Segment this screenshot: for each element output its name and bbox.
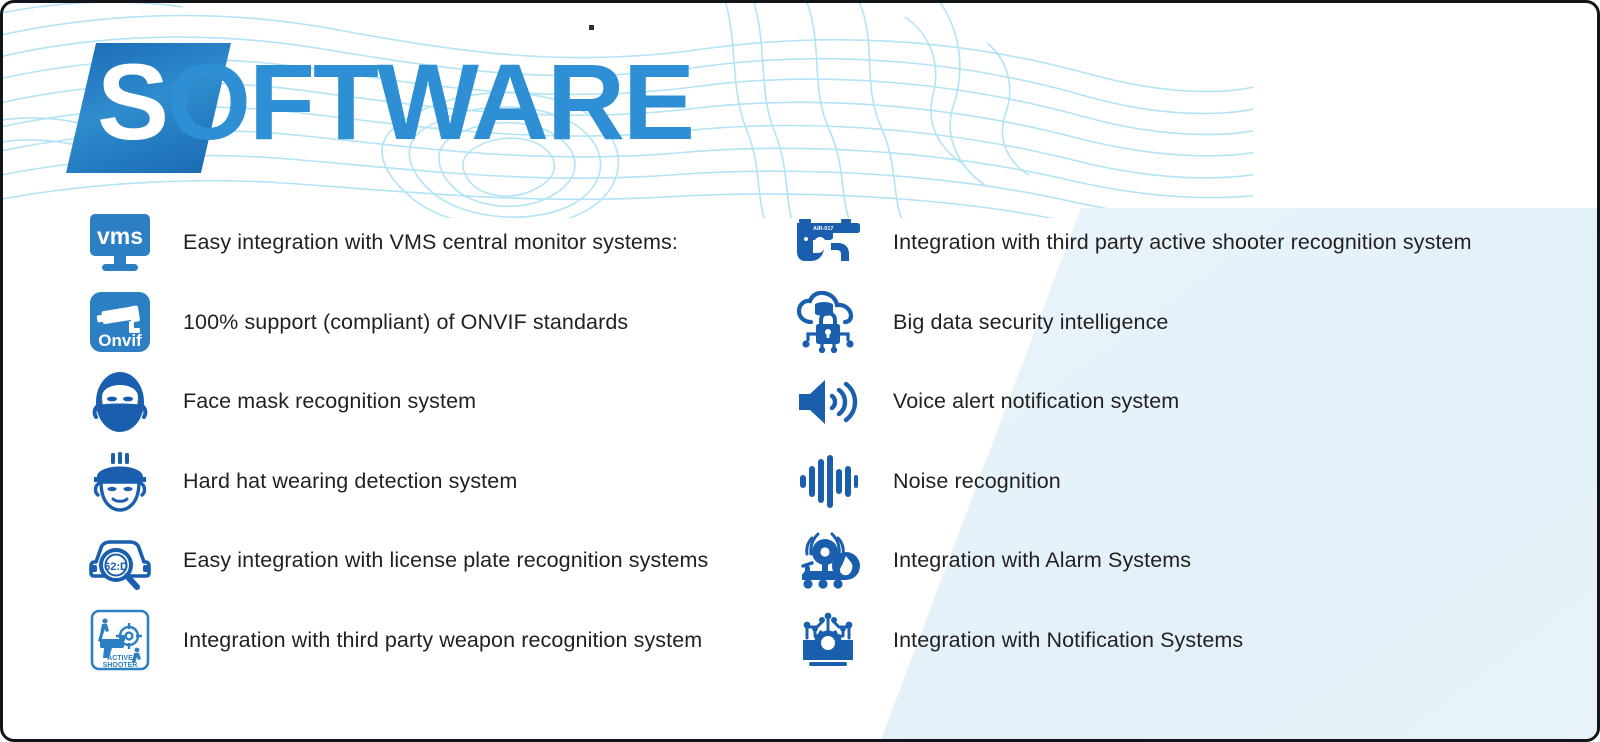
header: SOFTWARE <box>3 3 1600 203</box>
feature-item[interactable]: Big data security intelligence <box>793 283 1553 363</box>
hard-hat-icon <box>85 448 155 514</box>
feature-item[interactable]: ACTIVE SHOOTER Integration with third pa… <box>85 601 845 681</box>
onvif-camera-icon: Onvif <box>85 289 155 355</box>
feature-label: Integration with third party weapon reco… <box>183 628 702 653</box>
feature-grid: vms Easy integration with VMS central mo… <box>3 203 1600 723</box>
feature-label: 100% support (compliant) of ONVIF standa… <box>183 310 628 335</box>
active-shooter-sign-icon: ACTIVE SHOOTER <box>85 607 155 673</box>
feature-label: Face mask recognition system <box>183 389 476 414</box>
feature-label: Easy integration with VMS central monito… <box>183 230 678 255</box>
feature-item[interactable]: 62:D Easy integration with license plate… <box>85 521 845 601</box>
software-feature-slide: SOFTWARE vms Easy integration with VMS c… <box>0 0 1600 742</box>
license-plate-icon: 62:D <box>85 528 155 594</box>
cloud-lock-icon <box>793 289 863 355</box>
svg-text:vms: vms <box>97 223 143 249</box>
feature-item[interactable]: Hard hat wearing detection system <box>85 442 845 522</box>
pistol-icon: AIR-017 <box>793 210 863 276</box>
feature-item[interactable]: Onvif 100% support (compliant) of ONVIF … <box>85 283 845 363</box>
svg-text:ACTIVE: ACTIVE <box>107 655 133 662</box>
speaker-waves-icon <box>793 369 863 435</box>
vms-monitor-icon: vms <box>85 210 155 276</box>
feature-item[interactable]: Face mask recognition system <box>85 362 845 442</box>
feature-label: Noise recognition <box>893 469 1061 494</box>
svg-text:SHOOTER: SHOOTER <box>103 662 138 669</box>
feature-label: Integration with third party active shoo… <box>893 230 1472 255</box>
feature-item[interactable]: Integration with Alarm Systems <box>793 521 1553 601</box>
page-title-rest: OFTWARE <box>167 41 693 162</box>
svg-text:62:D: 62:D <box>104 561 128 573</box>
face-mask-icon <box>85 369 155 435</box>
feature-item[interactable]: AIR-017 Integration with third party act… <box>793 203 1553 283</box>
page-title-initial: S <box>97 41 167 162</box>
feature-item[interactable]: Voice alert notification system <box>793 362 1553 442</box>
feature-item[interactable]: vms Easy integration with VMS central mo… <box>85 203 845 283</box>
feature-label: Integration with Notification Systems <box>893 628 1243 653</box>
feature-column-right: AIR-017 Integration with third party act… <box>793 203 1553 680</box>
feature-label: Easy integration with license plate reco… <box>183 548 708 573</box>
svg-text:AIR-017: AIR-017 <box>813 226 833 232</box>
svg-text:Onvif: Onvif <box>98 331 142 350</box>
feature-column-left: vms Easy integration with VMS central mo… <box>85 203 845 680</box>
waveform-icon <box>793 448 863 514</box>
feature-label: Integration with Alarm Systems <box>893 548 1191 573</box>
feature-label: Voice alert notification system <box>893 389 1179 414</box>
feature-label: Hard hat wearing detection system <box>183 469 517 494</box>
feature-label: Big data security intelligence <box>893 310 1169 335</box>
page-title: SOFTWARE <box>97 37 693 167</box>
monitor-gear-icon <box>793 607 863 673</box>
alarm-bell-fire-icon <box>793 528 863 594</box>
feature-item[interactable]: Noise recognition <box>793 442 1553 522</box>
feature-item[interactable]: Integration with Notification Systems <box>793 601 1553 681</box>
